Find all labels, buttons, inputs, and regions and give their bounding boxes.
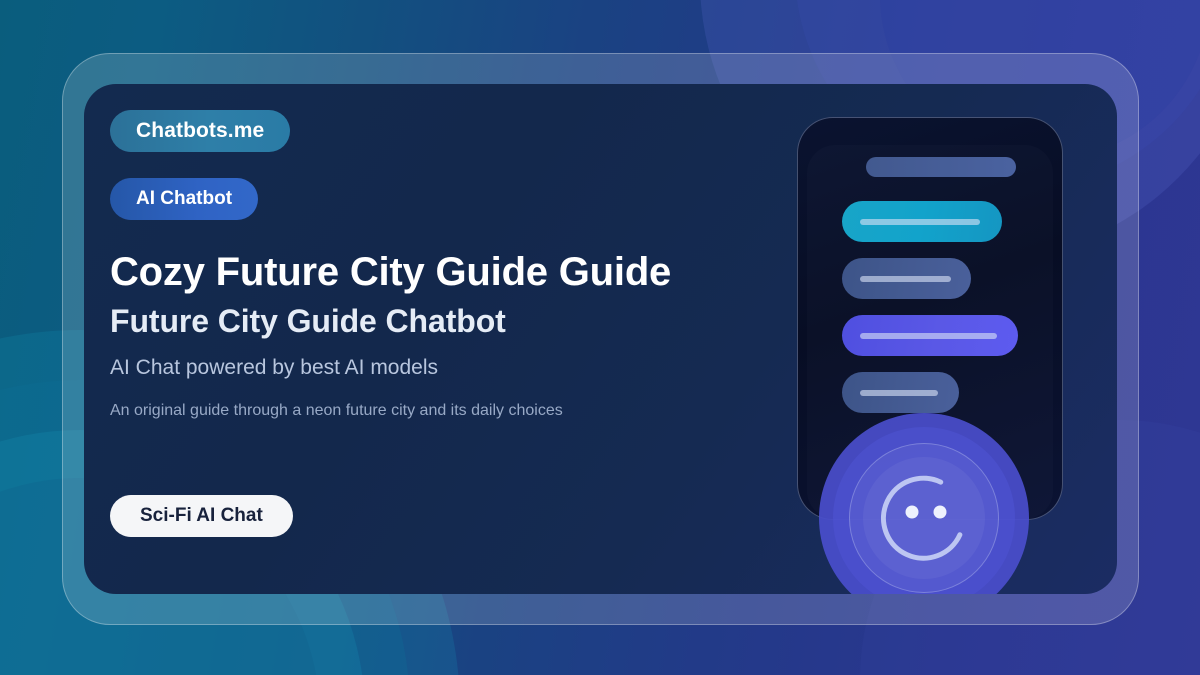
smiley-face-icon	[863, 457, 985, 579]
bubble-text-line	[860, 390, 938, 396]
tagline: AI Chat powered by best AI models	[110, 356, 770, 380]
brand-pill[interactable]: Chatbots.me	[110, 110, 290, 152]
mockup-header-bar	[866, 157, 1016, 177]
page-title: Cozy Future City Guide Guide	[110, 250, 770, 295]
category-pill[interactable]: AI Chatbot	[110, 178, 258, 220]
page-subtitle: Future City Guide Chatbot	[110, 303, 770, 340]
mockup-bubble-cyan	[842, 201, 1002, 242]
promo-card: Chatbots.me AI Chatbot Cozy Future City …	[84, 84, 1117, 594]
cta-button[interactable]: Sci-Fi AI Chat	[110, 495, 293, 537]
bubble-text-line	[860, 219, 980, 225]
mockup-bubble-indigo	[842, 315, 1018, 356]
bubble-text-line	[860, 333, 997, 339]
mockup-bubble-slate	[842, 258, 971, 299]
bubble-text-line	[860, 276, 951, 282]
mockup-bubble-slate-2	[842, 372, 959, 413]
avatar	[819, 413, 1029, 594]
description: An original guide through a neon future …	[110, 402, 770, 420]
